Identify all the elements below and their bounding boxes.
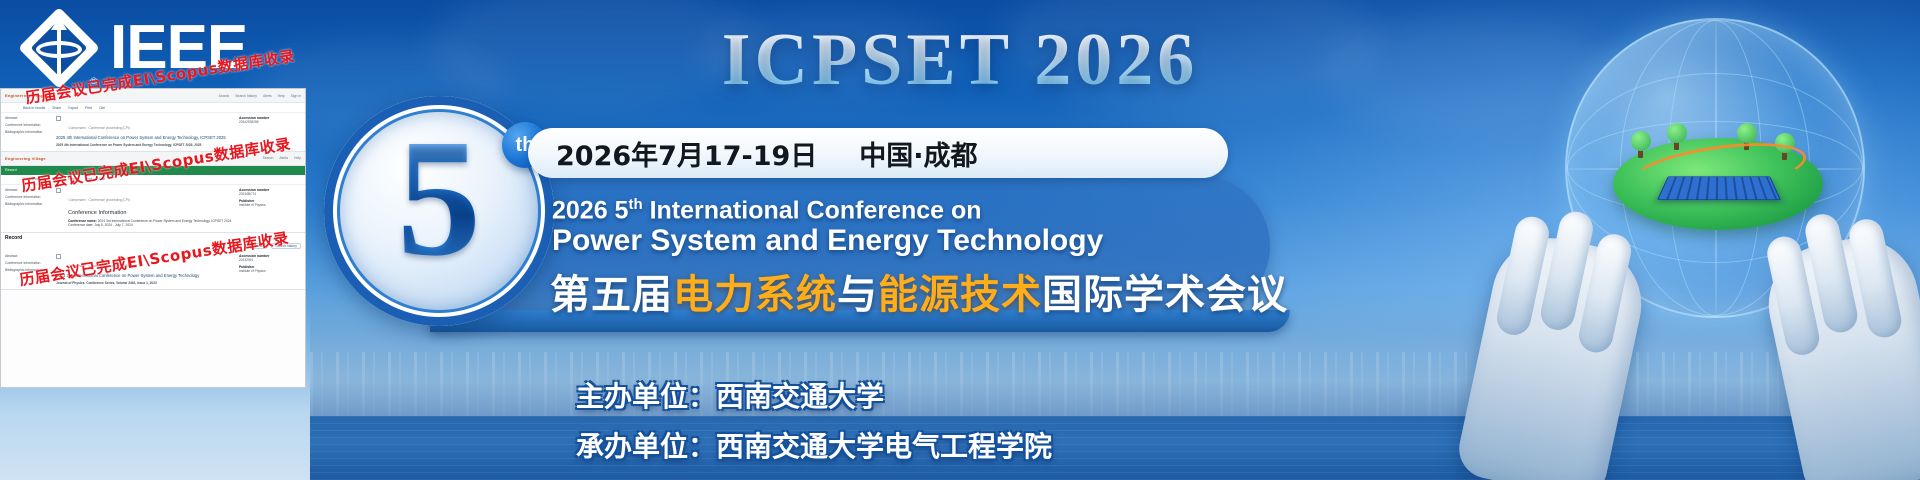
cite-button[interactable]: Cite [99, 106, 105, 110]
print-button[interactable]: Print [85, 106, 92, 110]
record-subtitle: Journal of Physics: Conference Series, V… [56, 281, 234, 285]
host-organization: 主办单位：西南交通大学 [576, 375, 884, 415]
conference-name-value: 2024 3rd International Conference on Pow… [98, 219, 232, 223]
conference-date-field: Conference date: July 5, 2024 - July 7, … [68, 223, 234, 228]
publisher-value: Institute of Physics [239, 203, 301, 207]
sidebar-item-bibliographic-information[interactable]: Bibliographic Information [5, 130, 51, 134]
accession-number-value: 20232091 [239, 258, 301, 262]
screenshot-sidebar: Abstract Conference Information Bibliogr… [5, 116, 51, 147]
screenshot-metadata: Accession number 20232091 Publisher Inst… [239, 254, 301, 285]
fifth-edition-emblem: 5 th [324, 96, 554, 326]
date-location-pill: 2026年7月17-19日 中国·成都 [528, 128, 1228, 178]
conference-name-label: Conference name: [68, 219, 97, 223]
robot-hand-right [1758, 227, 1920, 480]
record-label: Record [5, 168, 17, 172]
robot-hands [1490, 180, 1920, 480]
english-title-suffix: International Conference on [643, 196, 982, 224]
record-checkbox[interactable] [56, 116, 61, 121]
tree-icon [1631, 132, 1651, 158]
screenshot-metadata: Accession number 20244BCT4 Publisher Ins… [239, 188, 301, 228]
conference-location: 中国·成都 [859, 134, 977, 173]
record-source: Compendex · Conference proceeding (CPI) [68, 126, 129, 130]
nav-alerts[interactable]: Alerts [279, 156, 288, 160]
record-source: Compendex · Conference proceeding (CPI) [68, 198, 129, 202]
record-checkbox[interactable] [56, 254, 61, 259]
sidebar-item-abstract[interactable]: Abstract [5, 116, 51, 120]
screenshot-record: Compendex · Conference proceeding (CPI) … [56, 116, 234, 147]
conference-banner: ® IEEE Engineering Village Search Search… [0, 0, 1920, 480]
chinese-title-part5: 国际学术会议 [1042, 272, 1288, 318]
accession-number-value: 20342935286 [239, 120, 301, 124]
tree-icon [1667, 124, 1687, 150]
conference-information-heading: Conference Information [68, 210, 234, 216]
conference-acronym-title: ICPSET 2026 [722, 19, 1198, 101]
share-button[interactable]: Share [52, 106, 61, 110]
organizer-organization: 承办单位：西南交通大学电气工程学院 [576, 425, 1052, 465]
english-title-ordinal: th [628, 196, 642, 213]
sidebar-item-abstract[interactable]: Abstract [5, 254, 51, 258]
engineering-village-brand: Engineering Village [5, 156, 46, 161]
accession-number-value: 20244BCT4 [239, 192, 301, 196]
chinese-title-part1: 第五届 [550, 272, 673, 318]
sidebar-item-conference-information[interactable]: Conference Information [5, 195, 51, 199]
robot-hand-left [1454, 227, 1653, 480]
chinese-title-part3: 与 [837, 272, 878, 318]
english-title-prefix: 2026 5 [552, 196, 628, 224]
chinese-title: 第五届电力系统与能源技术国际学术会议 [550, 262, 1288, 320]
nav-help[interactable]: Help [294, 156, 301, 160]
publisher-value: Institute of Physics [239, 269, 301, 273]
conference-date: 2026年7月17-19日 [556, 134, 817, 173]
english-title-line1: 2026 5th International Conference on [552, 196, 982, 225]
export-button[interactable]: Export [68, 106, 78, 110]
screenshot-record: Compendex · Conference proceeding (CPI) … [56, 188, 234, 228]
sidebar-item-bibliographic-information[interactable]: Bibliographic Information [5, 202, 51, 206]
english-title-line2: Power System and Energy Technology [552, 224, 1103, 258]
record-title[interactable]: 2025 4th International Conference on Pow… [56, 135, 234, 141]
chinese-title-part2: 电力系统 [673, 272, 837, 318]
sidebar-item-conference-information[interactable]: Conference Information [5, 123, 51, 127]
chinese-title-part4: 能源技术 [878, 272, 1042, 318]
